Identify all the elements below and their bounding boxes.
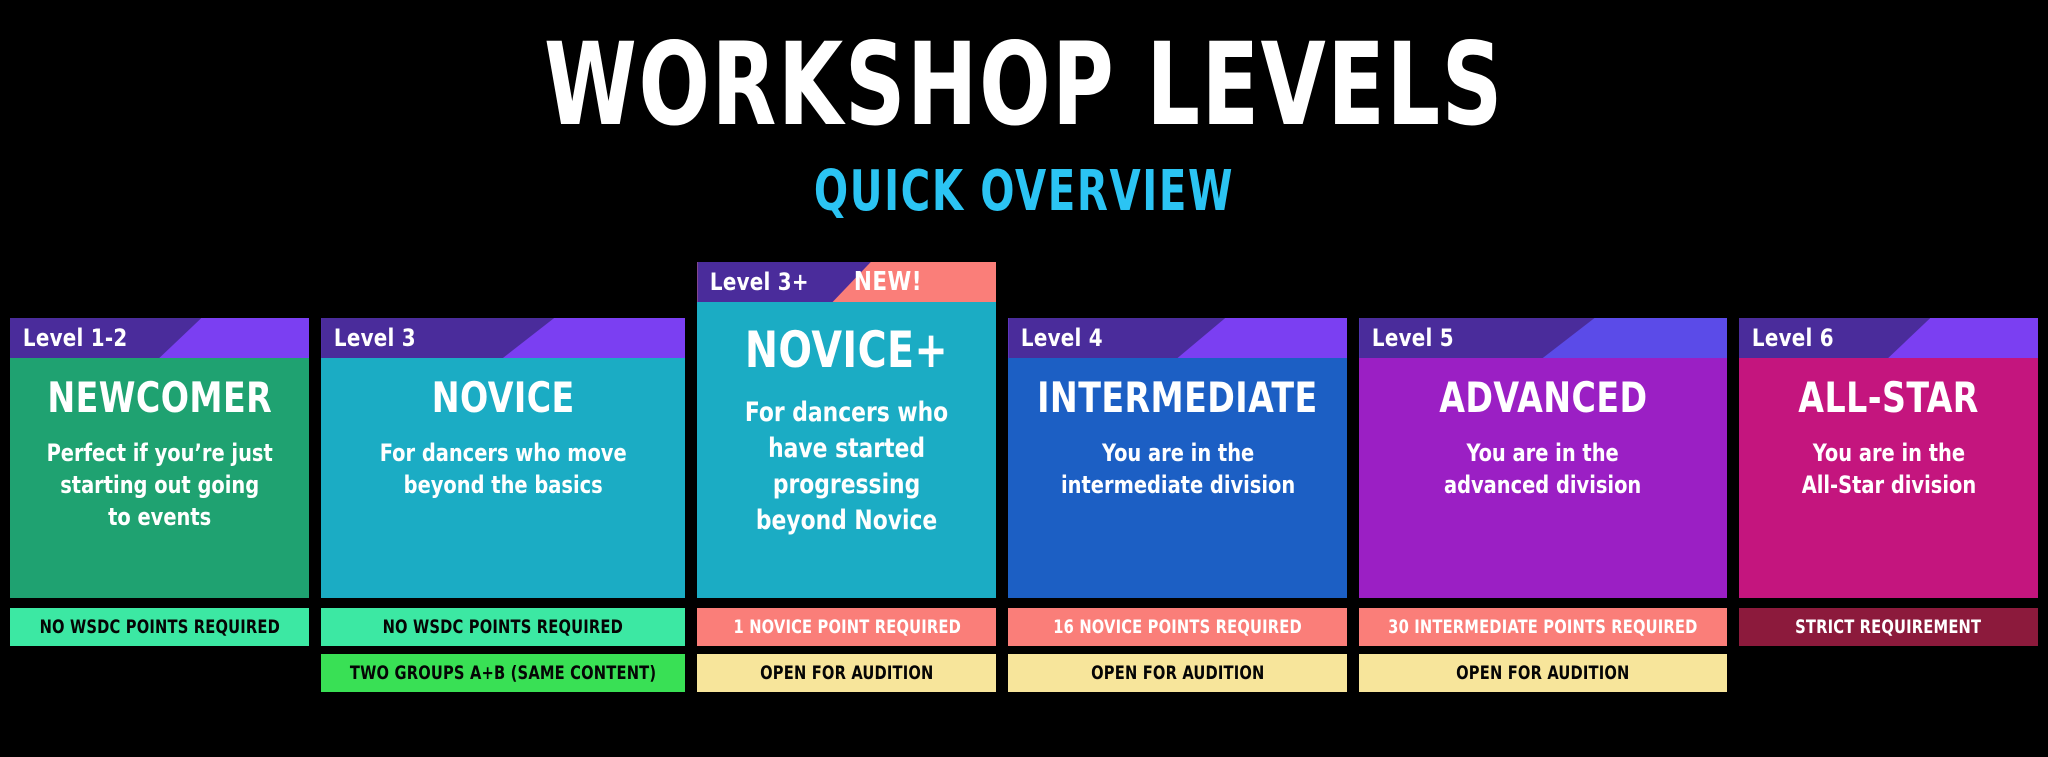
requirement-badges: 16 NOVICE POINTS REQUIREDOPEN FOR AUDITI… (1008, 608, 1347, 692)
level-card-body: ADVANCEDYou are in the advanced division (1359, 358, 1727, 598)
level-number-label: Level 4 (1008, 324, 1103, 352)
level-description: You are in the All-Star division (1801, 437, 1975, 501)
requirement-badge[interactable]: OPEN FOR AUDITION (697, 654, 996, 692)
level-number-label: Level 3+ (697, 268, 809, 296)
requirement-badge-label: OPEN FOR AUDITION (1091, 662, 1264, 684)
level-header-ribbon: Level 4 (1008, 318, 1347, 358)
level-card-body: INTERMEDIATEYou are in the intermediate … (1008, 358, 1347, 598)
level-header-ribbon: Level 3+NEW! (697, 262, 996, 302)
requirement-badge-label: 1 NOVICE POINT REQUIRED (733, 616, 960, 638)
requirement-badge[interactable]: OPEN FOR AUDITION (1359, 654, 1727, 692)
level-number-label: Level 1-2 (10, 324, 128, 352)
infographic-root: WORKSHOP LEVELS QUICK OVERVIEW Level 1-2… (0, 0, 2048, 757)
requirement-badge-label: NO WSDC POINTS REQUIRED (39, 616, 279, 638)
level-column-6[interactable]: Level 6ALL-STARYou are in the All-Star d… (1739, 318, 2038, 742)
title-block: WORKSHOP LEVELS QUICK OVERVIEW (0, 28, 2048, 220)
requirement-badge-label: TWO GROUPS A+B (SAME CONTENT) (350, 662, 656, 684)
level-name: NEWCOMER (47, 376, 272, 421)
level-card-body: ALL-STARYou are in the All-Star division (1739, 358, 2038, 598)
level-card-body: NOVICE+For dancers who have started prog… (697, 302, 996, 598)
level-header-ribbon: Level 3 (321, 318, 685, 358)
levels-grid: Level 1-2NEWCOMERPerfect if you’re just … (10, 318, 2038, 742)
level-card-body: NOVICEFor dancers who move beyond the ba… (321, 358, 685, 598)
level-name: ALL-STAR (1798, 376, 1979, 421)
requirement-badge-label: 30 INTERMEDIATE POINTS REQUIRED (1388, 616, 1697, 638)
level-column-5[interactable]: Level 5ADVANCEDYou are in the advanced d… (1359, 318, 1727, 742)
level-card[interactable]: Level 6ALL-STARYou are in the All-Star d… (1739, 318, 2038, 598)
level-column-4[interactable]: Level 4INTERMEDIATEYou are in the interm… (1008, 318, 1347, 742)
level-description: For dancers who have started progressing… (721, 395, 972, 539)
level-name: NOVICE+ (745, 324, 948, 377)
level-column-2[interactable]: Level 3NOVICEFor dancers who move beyond… (321, 318, 685, 742)
level-column-3[interactable]: Level 3+NEW!NOVICE+For dancers who have … (697, 262, 996, 742)
requirement-badges: STRICT REQUIREMENT (1739, 608, 2038, 692)
requirement-badge-label: STRICT REQUIREMENT (1795, 616, 1981, 638)
requirement-badge-label: OPEN FOR AUDITION (1456, 662, 1629, 684)
requirement-badge[interactable]: OPEN FOR AUDITION (1008, 654, 1347, 692)
level-description: Perfect if you’re just starting out goin… (46, 437, 272, 533)
level-header-ribbon: Level 6 (1739, 318, 2038, 358)
requirement-badge[interactable]: 30 INTERMEDIATE POINTS REQUIRED (1359, 608, 1727, 646)
level-card[interactable]: Level 5ADVANCEDYou are in the advanced d… (1359, 318, 1727, 598)
level-column-1[interactable]: Level 1-2NEWCOMERPerfect if you’re just … (10, 318, 309, 742)
level-description: For dancers who move beyond the basics (380, 437, 627, 501)
level-name: NOVICE (432, 376, 575, 421)
requirement-badge[interactable]: 16 NOVICE POINTS REQUIRED (1008, 608, 1347, 646)
level-header-ribbon: Level 1-2 (10, 318, 309, 358)
level-card[interactable]: Level 3NOVICEFor dancers who move beyond… (321, 318, 685, 598)
level-card[interactable]: Level 1-2NEWCOMERPerfect if you’re just … (10, 318, 309, 598)
level-card[interactable]: Level 3+NEW!NOVICE+For dancers who have … (697, 262, 996, 598)
new-badge: NEW! (854, 267, 990, 297)
level-card-body: NEWCOMERPerfect if you’re just starting … (10, 358, 309, 598)
level-number-label: Level 5 (1359, 324, 1454, 352)
requirement-badges: 30 INTERMEDIATE POINTS REQUIREDOPEN FOR … (1359, 608, 1727, 692)
level-card[interactable]: Level 4INTERMEDIATEYou are in the interm… (1008, 318, 1347, 598)
level-number-label: Level 3 (321, 324, 416, 352)
requirement-badges: 1 NOVICE POINT REQUIREDOPEN FOR AUDITION (697, 608, 996, 692)
requirement-badge-label: NO WSDC POINTS REQUIRED (383, 616, 623, 638)
level-description: You are in the advanced division (1444, 437, 1641, 501)
requirement-badge[interactable]: TWO GROUPS A+B (SAME CONTENT) (321, 654, 685, 692)
page-subtitle: QUICK OVERVIEW (205, 164, 1843, 220)
requirement-badge[interactable]: STRICT REQUIREMENT (1739, 608, 2038, 646)
level-header-ribbon: Level 5 (1359, 318, 1727, 358)
requirement-badge-label: OPEN FOR AUDITION (760, 662, 933, 684)
level-name: INTERMEDIATE (1038, 376, 1319, 421)
level-description: You are in the intermediate division (1061, 437, 1295, 501)
requirement-badge-label: 16 NOVICE POINTS REQUIRED (1054, 616, 1303, 638)
level-name: ADVANCED (1439, 376, 1647, 421)
page-title: WORKSHOP LEVELS (184, 28, 1863, 142)
requirement-badge[interactable]: NO WSDC POINTS REQUIRED (10, 608, 309, 646)
level-number-label: Level 6 (1739, 324, 1834, 352)
requirement-badges: NO WSDC POINTS REQUIRED (10, 608, 309, 692)
requirement-badges: NO WSDC POINTS REQUIREDTWO GROUPS A+B (S… (321, 608, 685, 692)
requirement-badge[interactable]: NO WSDC POINTS REQUIRED (321, 608, 685, 646)
requirement-badge[interactable]: 1 NOVICE POINT REQUIRED (697, 608, 996, 646)
